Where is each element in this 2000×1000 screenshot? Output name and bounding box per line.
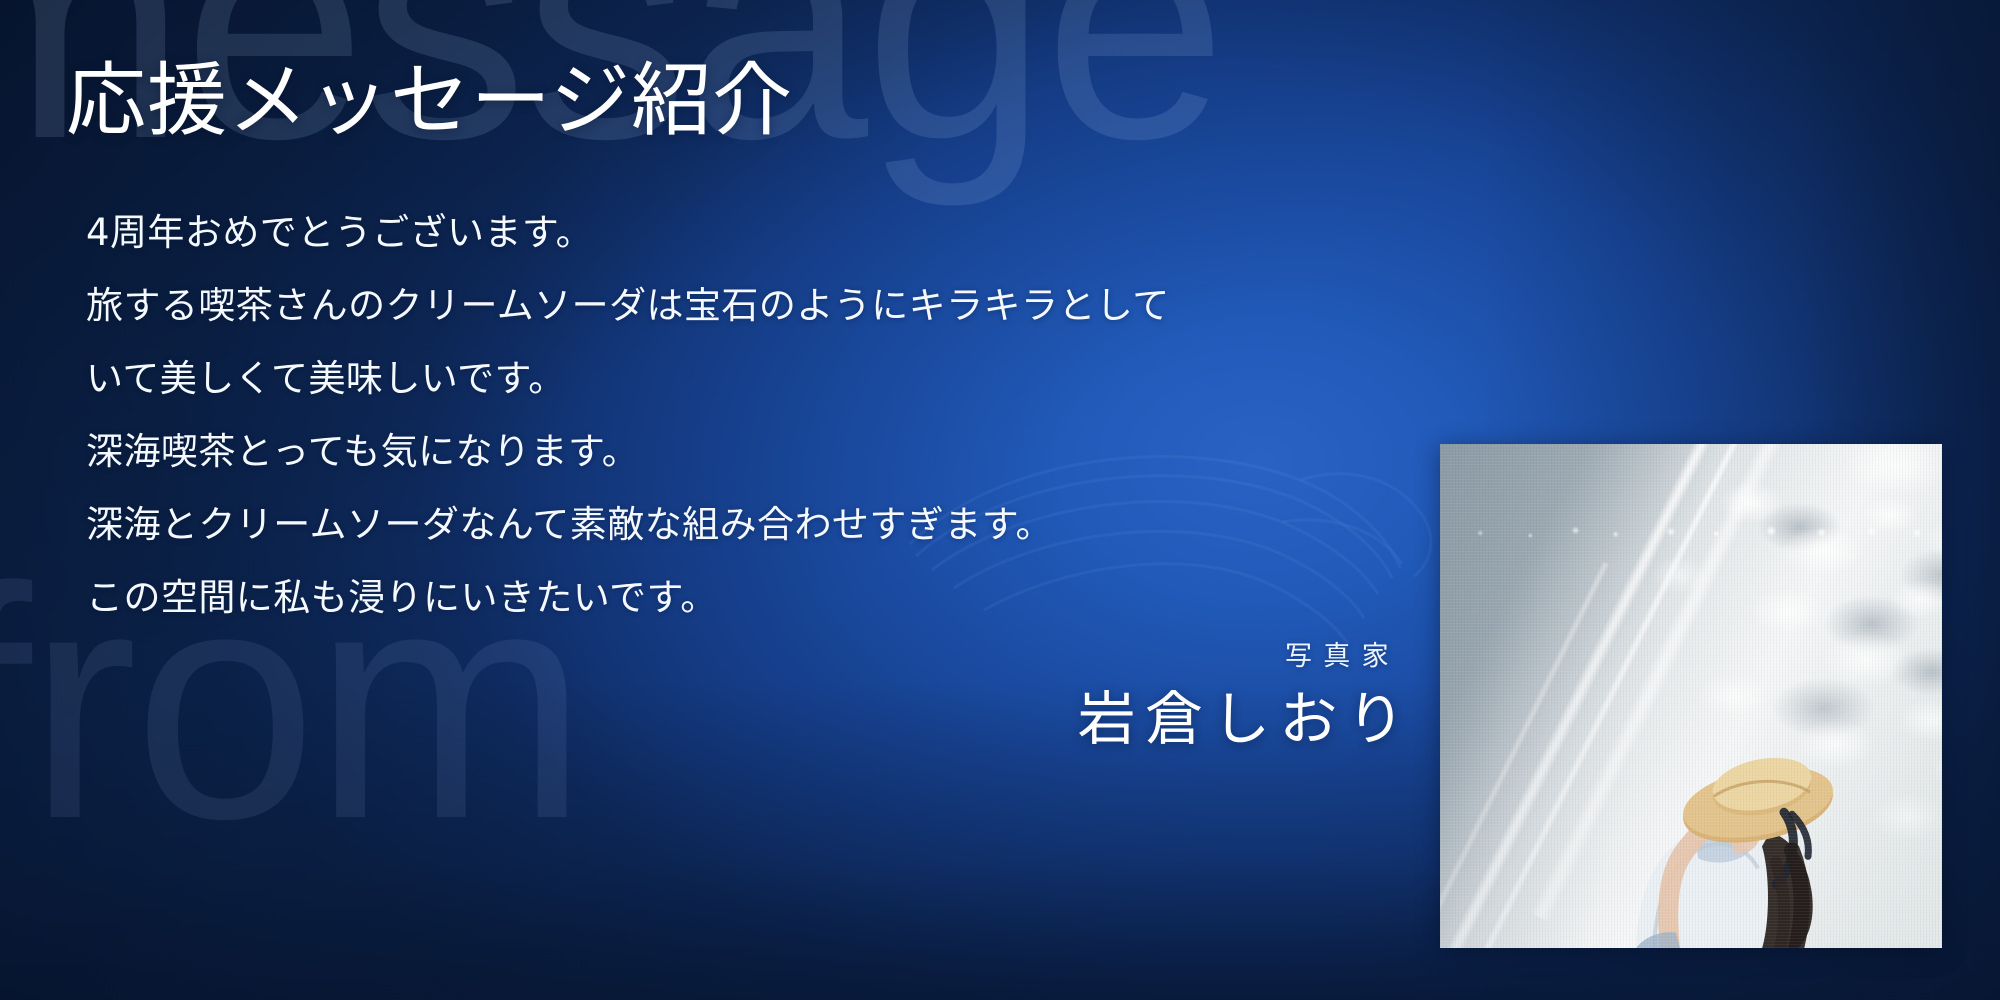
signature-role: 写真家 <box>1285 634 1400 673</box>
photo-film-grain <box>1440 444 1942 948</box>
message-line: 旅する喫茶さんのクリームソーダは宝石のようにキラキラとして <box>86 269 1146 342</box>
message-line: 深海喫茶とっても気になります。 <box>86 415 1146 488</box>
photographer-photo <box>1440 444 1942 948</box>
message-body: 4周年おめでとうございます。 旅する喫茶さんのクリームソーダは宝石のようにキラキ… <box>86 196 1146 634</box>
page-title: 応援メッセージ紹介 <box>66 58 793 148</box>
photo-content <box>1440 444 1942 948</box>
message-line: 4周年おめでとうございます。 <box>86 196 1146 269</box>
signature-name: 岩倉しおり <box>1078 672 1414 756</box>
message-slide: message from 応援メッセージ紹介 4周年おめでとうございます。 旅す… <box>0 0 2000 1000</box>
message-line: いて美しくて美味しいです。 <box>86 342 1146 415</box>
message-line: 深海とクリームソーダなんて素敵な組み合わせすぎます。 <box>86 488 1146 561</box>
message-line: この空間に私も浸りにいきたいです。 <box>86 561 1146 634</box>
